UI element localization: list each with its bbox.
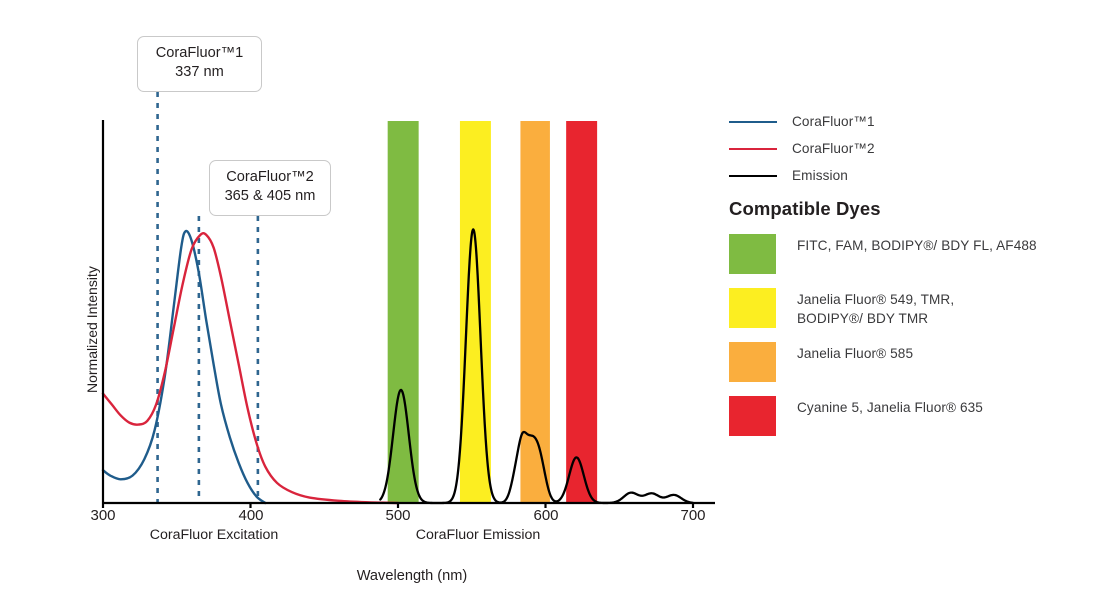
dye-item-orange: Janelia Fluor® 585: [729, 342, 913, 382]
dye-item-red: Cyanine 5, Janelia Fluor® 635: [729, 396, 983, 436]
dye-label-yellow: Janelia Fluor® 549, TMR, BODIPY®/ BDY TM…: [797, 288, 954, 329]
legend-label-corafluor1: CoraFluor™1: [792, 114, 875, 129]
callout-corafluor2: CoraFluor™2 365 & 405 nm: [209, 160, 331, 216]
dye-swatch-green: [729, 234, 776, 274]
emission-region-label: CoraFluor Emission: [405, 527, 551, 543]
x-tick-300: 300: [73, 507, 133, 524]
legend-item-corafluor2: CoraFluor™2: [729, 135, 1089, 162]
curve-corafluor1: [103, 231, 265, 503]
x-tick-700: 700: [663, 507, 723, 524]
red-band: [566, 121, 597, 503]
legend-item-emission: Emission: [729, 162, 1089, 189]
legend-line-swatch-emission: [729, 175, 777, 177]
x-tick-400: 400: [221, 507, 281, 524]
y-axis-title: Normalized Intensity: [84, 266, 100, 393]
legend-item-corafluor1: CoraFluor™1: [729, 108, 1089, 135]
fluorescence-spectra-figure: CoraFluor™1 337 nm CoraFluor™2 365 & 405…: [0, 0, 1110, 612]
curve-corafluor2: [103, 233, 398, 503]
dye-item-green: FITC, FAM, BODIPY®/ BDY FL, AF488: [729, 234, 1037, 274]
series-legend: CoraFluor™1 CoraFluor™2 Emission: [729, 108, 1089, 189]
legend-line-swatch-corafluor2: [729, 148, 777, 150]
orange-band: [520, 121, 550, 503]
dye-label-red: Cyanine 5, Janelia Fluor® 635: [797, 396, 983, 417]
x-axis-title: Wavelength (nm): [262, 568, 562, 584]
dye-swatch-red: [729, 396, 776, 436]
dye-item-yellow: Janelia Fluor® 549, TMR, BODIPY®/ BDY TM…: [729, 288, 954, 329]
callout-corafluor1: CoraFluor™1 337 nm: [137, 36, 262, 92]
excitation-region-label: CoraFluor Excitation: [131, 527, 297, 543]
dye-label-orange: Janelia Fluor® 585: [797, 342, 913, 363]
legend-label-emission: Emission: [792, 168, 848, 183]
x-tick-600: 600: [516, 507, 576, 524]
compatible-dyes-title: Compatible Dyes: [729, 198, 881, 220]
dye-label-green: FITC, FAM, BODIPY®/ BDY FL, AF488: [797, 234, 1037, 255]
legend-label-corafluor2: CoraFluor™2: [792, 141, 875, 156]
x-tick-500: 500: [368, 507, 428, 524]
dye-swatch-yellow: [729, 288, 776, 328]
legend-line-swatch-corafluor1: [729, 121, 777, 123]
dye-swatch-orange: [729, 342, 776, 382]
